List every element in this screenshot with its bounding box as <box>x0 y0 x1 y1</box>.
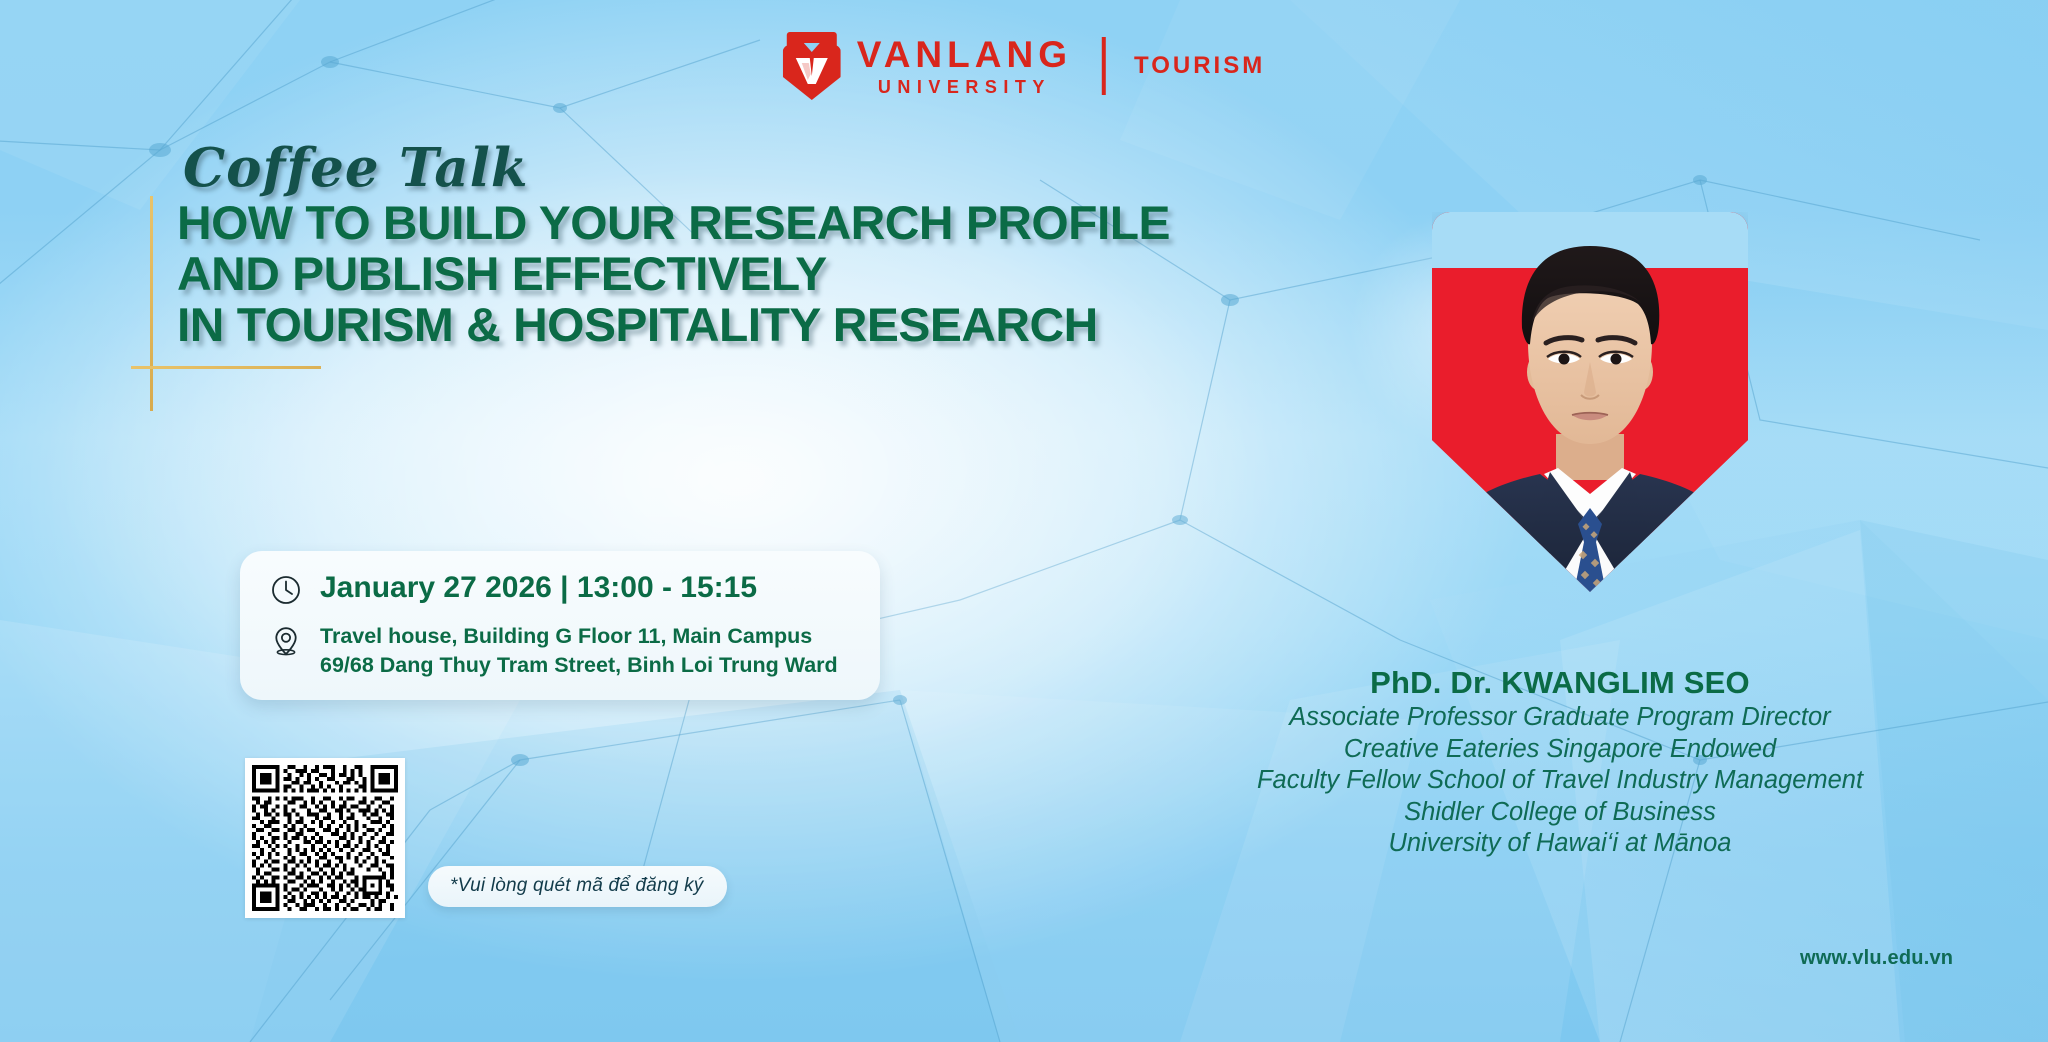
event-poster: VANLANG UNIVERSITY TOURISM Coffee Talk H… <box>0 0 2048 1042</box>
speaker-affiliation-4: Shidler College of Business <box>1160 797 1960 829</box>
logo-v-mark-icon <box>794 54 830 86</box>
venue-line-2: 69/68 Dang Thuy Tram Street, Binh Loi Tr… <box>320 651 838 680</box>
map-pin-icon <box>270 625 302 657</box>
speaker-details: PhD. Dr. KWANGLIM SEO Associate Professo… <box>1160 664 1960 860</box>
clock-icon <box>270 574 302 606</box>
brand-wordmark: VANLANG UNIVERSITY <box>857 36 1072 96</box>
event-datetime: January 27 2026 | 13:00 - 15:15 <box>320 571 757 605</box>
gold-vertical-accent <box>150 196 153 411</box>
speaker-name: PhD. Dr. KWANGLIM SEO <box>1160 664 1960 702</box>
speaker-photo <box>1432 212 1748 592</box>
event-details-card: January 27 2026 | 13:00 - 15:15 Travel h… <box>240 551 880 700</box>
page-title: HOW TO BUILD YOUR RESEARCH PROFILE AND P… <box>177 198 1151 350</box>
logo-divider <box>1102 37 1106 95</box>
gold-horizontal-accent <box>131 366 321 369</box>
qr-code-icon <box>252 765 398 911</box>
speaker-affiliation-2: Creative Eateries Singapore Endowed <box>1160 734 1960 766</box>
venue-line-1: Travel house, Building G Floor 11, Main … <box>320 622 838 651</box>
speaker-affiliation-5: University of Hawai‘i at Mānoa <box>1160 828 1960 860</box>
title-line-2: AND PUBLISH EFFECTIVELY <box>177 249 1170 299</box>
event-venue: Travel house, Building G Floor 11, Main … <box>320 622 838 680</box>
location-row: Travel house, Building G Floor 11, Main … <box>270 622 854 680</box>
eyebrow-title: Coffee Talk <box>183 137 529 199</box>
speaker-affiliation-1: Associate Professor Graduate Program Dir… <box>1160 702 1960 734</box>
website-url[interactable]: www.vlu.edu.vn <box>1800 947 1953 970</box>
speaker-portrait-icon <box>1432 212 1748 592</box>
speaker-photo-shield-frame <box>1432 212 1748 592</box>
title-line-1: HOW TO BUILD YOUR RESEARCH PROFILE <box>177 198 1170 248</box>
brand-subname: UNIVERSITY <box>878 78 1051 96</box>
speaker-affiliation-3: Faculty Fellow School of Travel Industry… <box>1160 765 1960 797</box>
qr-instruction-note: *Vui lòng quét mã để đăng ký <box>428 866 727 907</box>
title-line-3: IN TOURISM & HOSPITALITY RESEARCH <box>177 300 1170 350</box>
brand-department: TOURISM <box>1134 52 1265 80</box>
datetime-row: January 27 2026 | 13:00 - 15:15 <box>270 571 854 606</box>
vanlang-shield-icon <box>783 32 841 100</box>
brand-name: VANLANG <box>857 36 1072 73</box>
vanlang-university-logo: VANLANG UNIVERSITY TOURISM <box>783 32 1265 100</box>
registration-qr-code[interactable] <box>245 758 405 918</box>
